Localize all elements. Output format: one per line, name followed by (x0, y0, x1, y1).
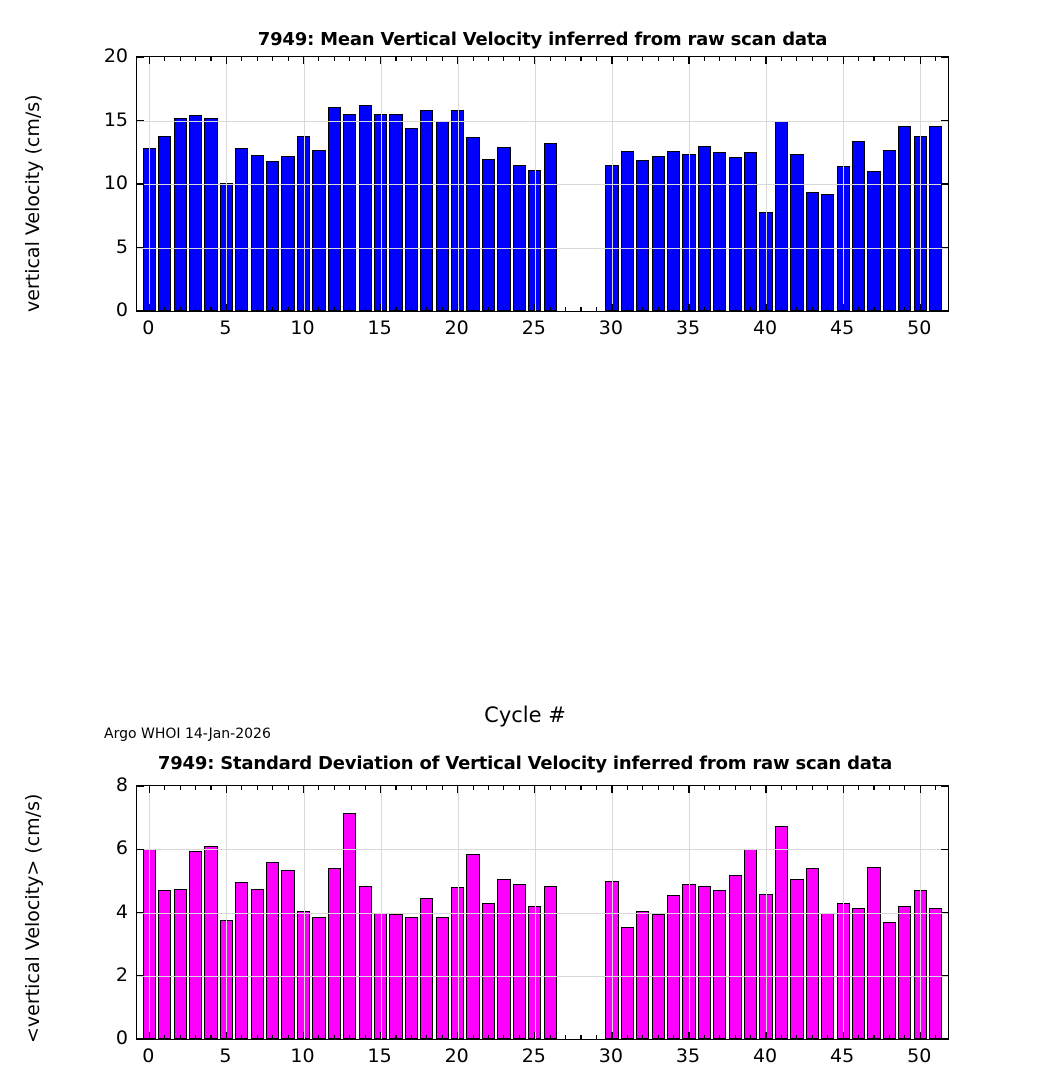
x-tick-minor (827, 786, 828, 790)
bar (821, 194, 834, 311)
x-tick-minor (873, 1035, 874, 1039)
gridline-vertical (920, 57, 921, 311)
x-tick-minor (812, 307, 813, 311)
x-tick-mark (457, 304, 458, 311)
x-tick-minor (704, 1035, 705, 1039)
x-tick-minor (503, 1035, 504, 1039)
x-tick-mark (611, 1032, 612, 1039)
bar (775, 121, 788, 312)
bar (281, 870, 294, 1039)
gridline-horizontal (137, 849, 948, 850)
std-velocity-ylabel: <vertical Velocity> (cm/s) (22, 794, 44, 1043)
bar (636, 160, 649, 311)
x-tick-minor (288, 307, 289, 311)
x-tick-minor (272, 307, 273, 311)
y-tick-mark (137, 1038, 144, 1039)
y-tick-mark (941, 975, 948, 976)
bar (312, 917, 325, 1039)
x-tick-minor (935, 786, 936, 790)
y-tick-mark (941, 120, 948, 121)
x-tick-minor (580, 786, 581, 790)
x-tick-minor (904, 1035, 905, 1039)
gridline-vertical (920, 786, 921, 1039)
x-tick-mark (765, 304, 766, 311)
x-tick-minor (442, 307, 443, 311)
x-tick-minor (827, 57, 828, 61)
x-tick-minor (164, 1035, 165, 1039)
x-tick-minor (565, 57, 566, 61)
x-tick-mark (457, 786, 458, 793)
y-tick-mark (137, 310, 144, 311)
x-tick-mark (303, 786, 304, 793)
x-tick-label: 40 (735, 1045, 795, 1067)
x-tick-minor (627, 786, 628, 790)
x-tick-minor (395, 786, 396, 790)
bar (806, 868, 819, 1039)
y-tick-label: 4 (68, 901, 128, 923)
std-velocity-axes (136, 785, 949, 1040)
x-tick-mark (226, 304, 227, 311)
y-tick-mark (941, 785, 948, 786)
x-tick-minor (334, 1035, 335, 1039)
x-tick-mark (765, 57, 766, 64)
x-tick-minor (719, 1035, 720, 1039)
gridline-vertical (535, 57, 536, 311)
x-tick-label: 15 (350, 1045, 410, 1067)
bar (251, 889, 264, 1039)
x-tick-minor (365, 57, 366, 61)
bar (466, 854, 479, 1039)
x-tick-minor (288, 1035, 289, 1039)
bar (158, 136, 171, 311)
bar (204, 846, 217, 1039)
gridline-vertical (689, 786, 690, 1039)
x-tick-mark (534, 57, 535, 64)
x-tick-minor (180, 307, 181, 311)
bar (852, 141, 865, 311)
gridline-vertical (766, 786, 767, 1039)
x-tick-mark (380, 57, 381, 64)
y-tick-label: 8 (68, 774, 128, 796)
x-tick-mark (226, 786, 227, 793)
x-tick-minor (627, 307, 628, 311)
x-tick-minor (519, 1035, 520, 1039)
x-tick-minor (164, 57, 165, 61)
x-tick-minor (349, 57, 350, 61)
x-tick-minor (195, 57, 196, 61)
x-tick-minor (812, 1035, 813, 1039)
x-tick-minor (318, 1035, 319, 1039)
bar (420, 110, 433, 311)
y-tick-mark (137, 120, 144, 121)
y-tick-mark (137, 975, 144, 976)
x-tick-minor (257, 1035, 258, 1039)
x-tick-minor (272, 786, 273, 790)
x-tick-minor (781, 1035, 782, 1039)
x-tick-mark (688, 1032, 689, 1039)
bar (883, 150, 896, 311)
x-tick-minor (873, 786, 874, 790)
x-tick-minor (673, 307, 674, 311)
x-tick-mark (303, 1032, 304, 1039)
y-tick-mark (941, 183, 948, 184)
x-tick-minor (349, 307, 350, 311)
std-velocity-panel: 7949: Standard Deviation of Vertical Vel… (0, 375, 1050, 750)
x-tick-minor (288, 57, 289, 61)
x-tick-minor (935, 1035, 936, 1039)
x-tick-mark (303, 304, 304, 311)
gridline-vertical (381, 57, 382, 311)
x-tick-minor (658, 57, 659, 61)
x-tick-minor (473, 1035, 474, 1039)
y-tick-mark (137, 56, 144, 57)
gridline-horizontal (137, 248, 948, 249)
x-tick-mark (226, 1032, 227, 1039)
x-tick-minor (735, 1035, 736, 1039)
cycle-axis-label: Cycle # (0, 703, 1050, 727)
x-tick-label: 30 (581, 317, 641, 339)
x-tick-minor (873, 57, 874, 61)
bar (466, 137, 479, 311)
gridline-horizontal (137, 184, 948, 185)
x-tick-minor (889, 1035, 890, 1039)
x-tick-minor (488, 1035, 489, 1039)
x-tick-minor (365, 1035, 366, 1039)
x-tick-mark (457, 1032, 458, 1039)
x-tick-minor (673, 786, 674, 790)
x-tick-label: 0 (118, 1045, 178, 1067)
x-tick-minor (442, 57, 443, 61)
x-tick-minor (858, 57, 859, 61)
bar (883, 922, 896, 1039)
x-tick-minor (503, 57, 504, 61)
bar (482, 159, 495, 311)
gridline-horizontal (137, 913, 948, 914)
x-tick-label: 50 (889, 317, 949, 339)
x-tick-mark (920, 304, 921, 311)
y-tick-label: 20 (68, 45, 128, 67)
gridline-vertical (304, 57, 305, 311)
x-tick-minor (858, 1035, 859, 1039)
mean-velocity-axes (136, 56, 949, 312)
x-tick-minor (257, 57, 258, 61)
x-tick-label: 20 (427, 1045, 487, 1067)
gridline-horizontal (137, 976, 948, 977)
x-tick-minor (580, 307, 581, 311)
y-tick-mark (137, 912, 144, 913)
gridline-vertical (843, 786, 844, 1039)
x-tick-minor (349, 1035, 350, 1039)
x-tick-minor (411, 57, 412, 61)
x-tick-minor (426, 1035, 427, 1039)
mean-velocity-panel: 7949: Mean Vertical Velocity inferred fr… (0, 0, 1050, 375)
x-tick-minor (704, 57, 705, 61)
x-tick-minor (735, 786, 736, 790)
x-tick-minor (180, 57, 181, 61)
x-tick-minor (796, 307, 797, 311)
x-tick-mark (611, 786, 612, 793)
bar (312, 150, 325, 311)
bar (544, 143, 557, 311)
y-tick-label: 2 (68, 964, 128, 986)
mean-velocity-title: 7949: Mean Vertical Velocity inferred fr… (136, 29, 949, 50)
x-tick-minor (796, 1035, 797, 1039)
x-tick-minor (503, 786, 504, 790)
x-tick-minor (658, 1035, 659, 1039)
gridline-vertical (149, 786, 150, 1039)
bar (729, 875, 742, 1039)
x-tick-minor (812, 57, 813, 61)
x-tick-minor (858, 307, 859, 311)
x-tick-mark (920, 1032, 921, 1039)
x-tick-minor (272, 57, 273, 61)
mean-velocity-ylabel: vertical Velocity (cm/s) (22, 94, 44, 312)
x-tick-mark (226, 57, 227, 64)
x-tick-minor (658, 786, 659, 790)
x-tick-mark (380, 304, 381, 311)
gridline-vertical (766, 57, 767, 311)
x-tick-minor (812, 786, 813, 790)
x-tick-minor (395, 307, 396, 311)
x-tick-minor (796, 786, 797, 790)
x-tick-minor (642, 786, 643, 790)
gridline-horizontal (137, 121, 948, 122)
bar (790, 154, 803, 311)
bar (343, 114, 356, 311)
bar (405, 917, 418, 1039)
bar (251, 155, 264, 311)
x-tick-minor (257, 307, 258, 311)
y-tick-mark (941, 310, 948, 311)
bar (189, 115, 202, 311)
x-tick-mark (457, 57, 458, 64)
bar (544, 886, 557, 1039)
x-tick-minor (904, 57, 905, 61)
x-tick-minor (565, 1035, 566, 1039)
y-tick-mark (941, 1038, 948, 1039)
gridline-vertical (458, 57, 459, 311)
y-tick-mark (941, 247, 948, 248)
x-tick-minor (827, 307, 828, 311)
x-tick-minor (395, 1035, 396, 1039)
bar (497, 879, 510, 1039)
bar (898, 126, 911, 311)
x-tick-minor (426, 307, 427, 311)
x-tick-minor (935, 307, 936, 311)
x-tick-mark (688, 57, 689, 64)
bar (621, 927, 634, 1039)
y-tick-label: 10 (68, 172, 128, 194)
x-tick-mark (765, 1032, 766, 1039)
gridline-vertical (304, 786, 305, 1039)
x-tick-minor (395, 57, 396, 61)
x-tick-minor (426, 786, 427, 790)
x-tick-minor (257, 786, 258, 790)
bar (189, 851, 202, 1039)
x-tick-minor (334, 307, 335, 311)
bar (744, 152, 757, 311)
y-tick-mark (941, 849, 948, 850)
x-tick-minor (719, 786, 720, 790)
x-tick-minor (796, 57, 797, 61)
x-tick-minor (519, 57, 520, 61)
x-tick-minor (503, 307, 504, 311)
bar (359, 886, 372, 1039)
x-tick-minor (627, 1035, 628, 1039)
x-tick-minor (889, 786, 890, 790)
y-tick-mark (137, 183, 144, 184)
x-tick-minor (442, 786, 443, 790)
x-tick-minor (889, 307, 890, 311)
x-tick-label: 40 (735, 317, 795, 339)
bar (729, 157, 742, 311)
bar (929, 908, 942, 1039)
x-tick-minor (411, 1035, 412, 1039)
bar (713, 152, 726, 311)
x-tick-minor (719, 307, 720, 311)
x-tick-minor (580, 57, 581, 61)
x-tick-minor (318, 786, 319, 790)
x-tick-minor (473, 786, 474, 790)
x-tick-mark (534, 304, 535, 311)
x-tick-mark (843, 304, 844, 311)
x-tick-label: 25 (504, 1045, 564, 1067)
x-tick-minor (519, 786, 520, 790)
x-tick-minor (180, 786, 181, 790)
bar (174, 118, 187, 311)
x-tick-label: 45 (812, 317, 872, 339)
x-tick-minor (781, 786, 782, 790)
x-tick-minor (673, 1035, 674, 1039)
gridline-vertical (612, 57, 613, 311)
bar (328, 107, 341, 311)
x-tick-minor (580, 1035, 581, 1039)
x-tick-minor (180, 1035, 181, 1039)
y-tick-label: 6 (68, 837, 128, 859)
x-tick-mark (843, 786, 844, 793)
gridline-vertical (381, 786, 382, 1039)
x-tick-label: 35 (658, 317, 718, 339)
bar (744, 849, 757, 1039)
bar (698, 146, 711, 311)
x-tick-minor (873, 307, 874, 311)
x-tick-minor (550, 786, 551, 790)
gridline-vertical (226, 57, 227, 311)
x-tick-mark (149, 1032, 150, 1039)
bar (513, 165, 526, 311)
bar (235, 882, 248, 1039)
bar (621, 151, 634, 311)
x-tick-minor (642, 57, 643, 61)
bar (790, 879, 803, 1039)
x-tick-minor (550, 1035, 551, 1039)
bar (652, 156, 665, 311)
bar (667, 151, 680, 311)
x-tick-minor (889, 57, 890, 61)
bar (389, 114, 402, 311)
x-tick-mark (611, 57, 612, 64)
x-tick-label: 45 (812, 1045, 872, 1067)
x-tick-minor (750, 1035, 751, 1039)
bar (266, 862, 279, 1039)
x-tick-minor (334, 57, 335, 61)
x-tick-minor (210, 307, 211, 311)
x-tick-label: 50 (889, 1045, 949, 1067)
x-tick-minor (349, 786, 350, 790)
y-tick-mark (137, 849, 144, 850)
x-tick-minor (858, 786, 859, 790)
x-tick-mark (920, 786, 921, 793)
x-tick-minor (164, 786, 165, 790)
x-tick-minor (241, 1035, 242, 1039)
bar (775, 826, 788, 1039)
x-tick-minor (627, 57, 628, 61)
x-tick-minor (596, 57, 597, 61)
bar (343, 813, 356, 1039)
x-tick-mark (611, 304, 612, 311)
x-tick-minor (488, 57, 489, 61)
x-tick-minor (442, 1035, 443, 1039)
x-tick-minor (704, 307, 705, 311)
bar (328, 868, 341, 1039)
std-velocity-title: 7949: Standard Deviation of Vertical Vel… (0, 753, 1050, 774)
x-tick-label: 35 (658, 1045, 718, 1067)
x-tick-label: 10 (273, 1045, 333, 1067)
bar (698, 886, 711, 1039)
x-tick-mark (843, 1032, 844, 1039)
x-tick-minor (750, 307, 751, 311)
x-tick-minor (596, 307, 597, 311)
x-tick-mark (920, 57, 921, 64)
bar (436, 917, 449, 1039)
y-tick-mark (137, 785, 144, 786)
x-tick-minor (781, 57, 782, 61)
x-tick-minor (735, 307, 736, 311)
x-tick-minor (596, 786, 597, 790)
x-tick-label: 5 (195, 1045, 255, 1067)
x-tick-minor (704, 786, 705, 790)
x-tick-minor (411, 307, 412, 311)
x-tick-mark (303, 57, 304, 64)
gridline-vertical (535, 786, 536, 1039)
x-tick-minor (241, 57, 242, 61)
y-tick-mark (137, 247, 144, 248)
x-tick-mark (843, 57, 844, 64)
x-tick-mark (534, 1032, 535, 1039)
x-tick-minor (642, 1035, 643, 1039)
x-tick-label: 10 (273, 317, 333, 339)
bar (235, 148, 248, 311)
bar (204, 118, 217, 311)
figure-footer: Argo WHOI 14-Jan-2026 (104, 726, 271, 742)
x-tick-label: 20 (427, 317, 487, 339)
x-tick-minor (195, 1035, 196, 1039)
x-tick-mark (149, 304, 150, 311)
x-tick-minor (426, 57, 427, 61)
gridline-vertical (612, 786, 613, 1039)
bar (359, 105, 372, 311)
x-tick-minor (719, 57, 720, 61)
x-tick-minor (318, 307, 319, 311)
x-tick-mark (380, 1032, 381, 1039)
x-tick-mark (149, 786, 150, 793)
x-tick-minor (272, 1035, 273, 1039)
x-tick-minor (488, 307, 489, 311)
x-tick-minor (473, 57, 474, 61)
x-tick-minor (241, 786, 242, 790)
x-tick-label: 15 (350, 317, 410, 339)
x-tick-minor (488, 786, 489, 790)
